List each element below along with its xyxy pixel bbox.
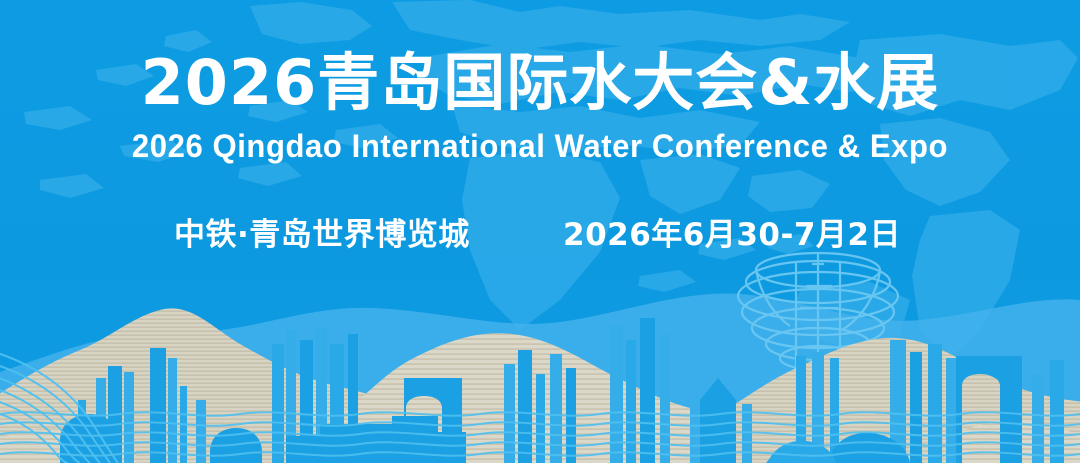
event-banner: 2026青岛国际水大会&水展 2026 Qingdao Internationa… — [0, 0, 1080, 463]
wave-lines-water — [0, 0, 1080, 463]
